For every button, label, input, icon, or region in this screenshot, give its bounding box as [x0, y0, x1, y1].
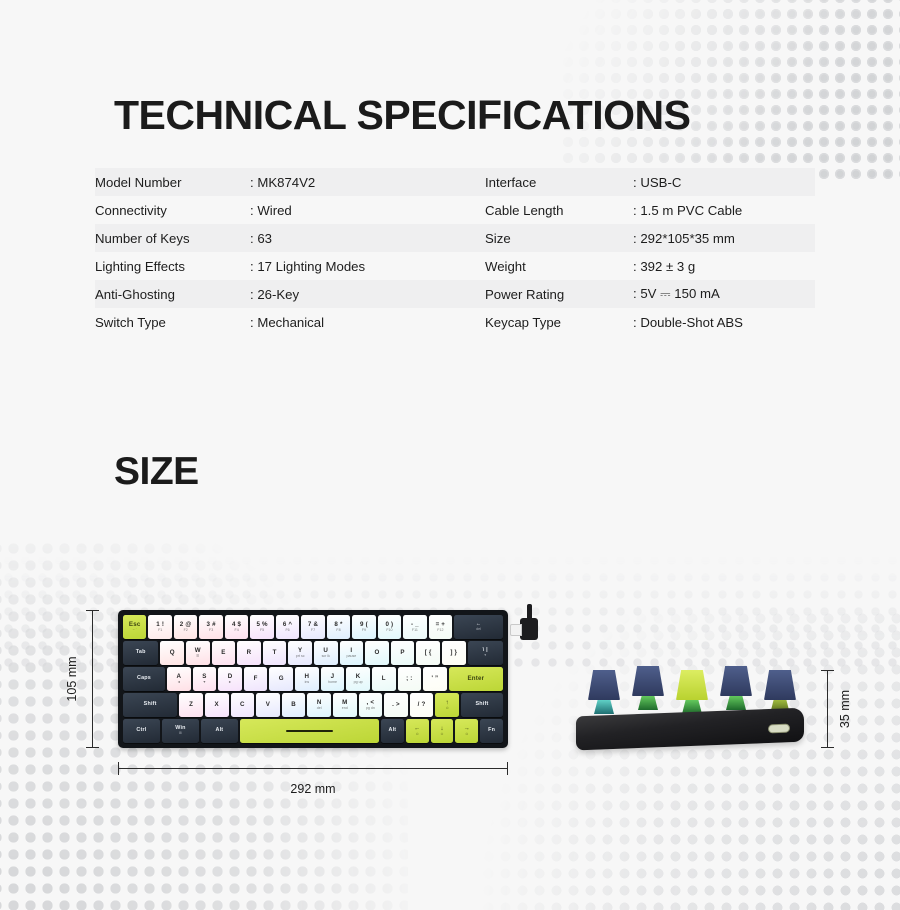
- width-dimension-line: [118, 768, 508, 769]
- width-cap-left: [118, 762, 119, 775]
- side-keycap-top: [588, 670, 620, 700]
- depth-dimension-label: 35 mm: [838, 679, 852, 739]
- usb-c-connector-icon: [508, 604, 540, 652]
- key-legend: S: [202, 674, 206, 680]
- key-legend: / ?: [418, 702, 426, 708]
- key-sublegend: del: [476, 628, 481, 632]
- key-legend: R: [247, 650, 252, 656]
- key-enter[interactable]: Enter: [449, 667, 503, 691]
- key-legend: 7 &: [308, 622, 318, 628]
- key-r[interactable]: R: [237, 641, 261, 665]
- key-[interactable]: , <pg dn: [359, 693, 383, 717]
- key-legend: Esc: [129, 622, 141, 628]
- key-legend: Shift: [144, 702, 157, 707]
- key-sublegend: home: [328, 681, 337, 685]
- key-legend: L: [382, 676, 386, 682]
- key-[interactable]: ' ”: [423, 667, 447, 691]
- key-sublegend: pause: [346, 655, 356, 659]
- key-legend: ' ”: [431, 676, 438, 682]
- width-dimension-label: 292 mm: [118, 782, 508, 796]
- key-legend: ] }: [450, 650, 457, 656]
- key-legend: E: [221, 650, 225, 656]
- key-b[interactable]: B: [282, 693, 306, 717]
- key-sublegend: ⊙: [416, 733, 419, 737]
- side-keycap-switch: [726, 696, 746, 710]
- key-sublegend: scr lk: [322, 655, 330, 659]
- key-legend: G: [279, 676, 284, 682]
- key-[interactable]: [ {: [416, 641, 440, 665]
- spec-key: Keycap Type: [485, 308, 633, 336]
- spec-value: : Double-Shot ABS: [633, 308, 815, 336]
- key-6[interactable]: 6 ^F6: [276, 615, 299, 639]
- key-ctrl[interactable]: Ctrl: [123, 719, 160, 743]
- key-legend: C: [240, 702, 245, 708]
- key-sublegend: F1: [158, 629, 162, 633]
- spec-value: : 1.5 m PVC Cable: [633, 196, 815, 224]
- key-u[interactable]: Uscr lk: [314, 641, 338, 665]
- key-sublegend: F10: [386, 629, 392, 633]
- spec-key: Model Number: [95, 168, 250, 196]
- key-legend: Q: [170, 650, 175, 656]
- key-legend: H: [305, 674, 310, 680]
- key-sublegend: end: [342, 707, 348, 711]
- key-legend: 5 %: [256, 622, 267, 628]
- key-sublegend: ▾: [484, 654, 486, 658]
- spec-value: : 63: [250, 224, 485, 252]
- key-legend: Enter: [467, 676, 484, 682]
- key-legend: ↓: [440, 726, 443, 732]
- key-tab[interactable]: Tab: [123, 641, 158, 665]
- key-v[interactable]: V: [256, 693, 280, 717]
- key-esc[interactable]: Esc~ `: [123, 615, 146, 639]
- key-space[interactable]: [240, 719, 379, 743]
- spec-row: Number of Keys: 63Size: 292*105*35 mm: [95, 224, 815, 252]
- key-legend: D: [228, 674, 233, 680]
- keyboard-row: Esc~ `1 !F12 @F23 #F34 $F45 %F56 ^F67 &F…: [123, 615, 503, 639]
- side-keycap: [676, 670, 708, 714]
- key-fn[interactable]: Fn: [480, 719, 503, 743]
- side-keycap: [720, 666, 752, 710]
- spec-key: Lighting Effects: [95, 252, 250, 280]
- depth-cap-bottom: [821, 747, 834, 748]
- key-legend: 9 (: [360, 622, 368, 628]
- technical-specifications-heading: TECHNICAL SPECIFICATIONS: [114, 92, 690, 139]
- key-o[interactable]: O: [365, 641, 389, 665]
- key-sublegend: F8: [336, 629, 340, 633]
- spec-key: Power Rating: [485, 280, 633, 308]
- height-dimension-line: [92, 610, 93, 748]
- key-g[interactable]: G: [269, 667, 293, 691]
- key-legend: . >: [392, 702, 400, 708]
- spec-key: Cable Length: [485, 196, 633, 224]
- side-keycap-top: [764, 670, 796, 700]
- key-legend: - _: [411, 622, 419, 628]
- key-legend: ; :: [406, 676, 412, 682]
- key-legend: A: [176, 674, 181, 680]
- key-h[interactable]: Hins: [295, 667, 319, 691]
- key-d[interactable]: D►: [218, 667, 242, 691]
- key-legend: F: [254, 676, 258, 682]
- key-9[interactable]: 9 (F9: [352, 615, 375, 639]
- key-sublegend: F2: [184, 629, 188, 633]
- key-sublegend: F4: [235, 629, 239, 633]
- key-legend: J: [331, 674, 335, 680]
- side-keycap-switch: [638, 696, 658, 710]
- key-[interactable]: = +F12: [429, 615, 452, 639]
- key-legend: P: [400, 650, 404, 656]
- key-i[interactable]: Ipause: [340, 641, 364, 665]
- width-cap-right: [507, 762, 508, 775]
- key-legend: U: [323, 648, 328, 654]
- height-cap-top: [86, 610, 99, 611]
- key-a[interactable]: A◄: [167, 667, 191, 691]
- key-m[interactable]: Mend: [333, 693, 357, 717]
- height-dimension-label: 105 mm: [65, 649, 79, 709]
- key-j[interactable]: Jhome: [321, 667, 345, 691]
- key-legend: 0 ): [386, 622, 394, 628]
- key-sublegend: pg up: [354, 681, 363, 685]
- key-4[interactable]: 4 $F4: [225, 615, 248, 639]
- spec-value: : MK874V2: [250, 168, 485, 196]
- key-legend: 4 $: [232, 622, 241, 628]
- key-sublegend: ◄: [177, 681, 181, 685]
- key-sublegend: F5: [260, 629, 264, 633]
- key-shift[interactable]: Shift: [461, 693, 503, 717]
- size-diagram: 105 mm 292 mm 35 mm Esc~ `1 !F12 @F23 #F…: [0, 560, 900, 830]
- key-sublegend: ▼: [203, 681, 207, 685]
- spec-row: Model Number: MK874V2Interface: USB-C: [95, 168, 815, 196]
- spec-row: Lighting Effects: 17 Lighting ModesWeigh…: [95, 252, 815, 280]
- key-sublegend: ⊙: [446, 707, 449, 711]
- side-keycap-top: [720, 666, 752, 696]
- usb-c-port: [768, 724, 790, 734]
- side-keycap: [632, 666, 664, 710]
- key-legend: B: [291, 702, 296, 708]
- key-[interactable]: ←⊙: [406, 719, 429, 743]
- key-e[interactable]: E: [212, 641, 236, 665]
- key-c[interactable]: C: [231, 693, 255, 717]
- usb-plug-tip: [510, 624, 522, 636]
- key-legend: T: [273, 650, 277, 656]
- key-sublegend: ⊞: [179, 732, 182, 736]
- key-legend: 8 *: [334, 622, 342, 628]
- key-legend: , <: [367, 700, 375, 706]
- key-[interactable]: →⊙: [455, 719, 478, 743]
- key-legend: Fn: [488, 728, 495, 733]
- key-1[interactable]: 1 !F1: [148, 615, 171, 639]
- key-shift[interactable]: Shift: [123, 693, 177, 717]
- key-sublegend: ►: [228, 681, 232, 685]
- keyboard-row: CapsA◄S▼D►FGHinsJhomeKpg upL; :' ”Enter: [123, 667, 503, 691]
- key-[interactable]: / ?: [410, 693, 434, 717]
- key-legend: M: [342, 700, 347, 706]
- key-sublegend: pg dn: [366, 707, 375, 711]
- depth-dimension-line: [827, 670, 828, 748]
- key-sublegend: ~ `: [133, 629, 137, 633]
- spec-value: : Wired: [250, 196, 485, 224]
- key-[interactable]: - _F11: [403, 615, 426, 639]
- key-sublegend: F9: [362, 629, 366, 633]
- key-w[interactable]: W☰: [186, 641, 210, 665]
- key-k[interactable]: Kpg up: [346, 667, 370, 691]
- height-cap-bottom: [86, 747, 99, 748]
- key-sublegend: F6: [285, 629, 289, 633]
- spec-row: Switch Type: MechanicalKeycap Type: Doub…: [95, 308, 815, 336]
- key-alt[interactable]: Alt: [201, 719, 238, 743]
- key-legend: O: [374, 650, 379, 656]
- key-p[interactable]: P: [391, 641, 415, 665]
- key-8[interactable]: 8 *F8: [327, 615, 350, 639]
- depth-cap-top: [821, 670, 834, 671]
- key-t[interactable]: T: [263, 641, 287, 665]
- halftone-pattern-top-right: [560, 0, 900, 180]
- key-alt[interactable]: Alt: [381, 719, 404, 743]
- key-[interactable]: \ |▾: [468, 641, 503, 665]
- usb-plug-body: [520, 618, 538, 640]
- key-sublegend: ins: [305, 681, 310, 685]
- key-legend: →: [464, 726, 470, 732]
- spec-row: Anti-Ghosting: 26-KeyPower Rating: 5V ⎓ …: [95, 280, 815, 308]
- key-legend: Y: [298, 648, 302, 654]
- key-sublegend: F3: [209, 629, 213, 633]
- key-0[interactable]: 0 )F10: [378, 615, 401, 639]
- spec-row: Connectivity: WiredCable Length: 1.5 m P…: [95, 196, 815, 224]
- key-n[interactable]: Ndel: [307, 693, 331, 717]
- key-7[interactable]: 7 &F7: [301, 615, 324, 639]
- key-y[interactable]: Yprt sc: [288, 641, 312, 665]
- key-win[interactable]: Win⊞: [162, 719, 199, 743]
- key-sublegend: del: [317, 707, 322, 711]
- key-legend: W: [195, 648, 201, 654]
- key-[interactable]: ; :: [398, 667, 422, 691]
- key-5[interactable]: 5 %F5: [250, 615, 273, 639]
- spec-key: Number of Keys: [95, 224, 250, 252]
- spec-value: : 292*105*35 mm: [633, 224, 815, 252]
- keyboard-row: ShiftZXCVBNdelMend, <pg dn. >/ ?↑⊙Shift: [123, 693, 503, 717]
- key-sublegend: ⊙: [441, 733, 444, 737]
- side-keycap-top: [632, 666, 664, 696]
- spec-key: Anti-Ghosting: [95, 280, 250, 308]
- key-sublegend: F11: [412, 629, 418, 633]
- key-legend: 3 #: [207, 622, 216, 628]
- key-legend: N: [317, 700, 322, 706]
- key-legend: ←: [414, 726, 420, 732]
- size-heading: SIZE: [114, 450, 199, 494]
- keyboard-row: TabQW☰ERTYprt scUscr lkIpauseOP[ {] }\ |…: [123, 641, 503, 665]
- key-legend: K: [356, 674, 361, 680]
- key-legend: I: [350, 648, 352, 654]
- keyboard-row: CtrlWin⊞AltAlt←⊙↓⊙→⊙Fn: [123, 719, 503, 743]
- key-legend: Shift: [476, 702, 489, 707]
- spacebar-mark: [286, 730, 333, 732]
- spec-value: : Mechanical: [250, 308, 485, 336]
- keyboard-top-view: Esc~ `1 !F12 @F23 #F34 $F45 %F56 ^F67 &F…: [118, 610, 508, 748]
- key-legend: Ctrl: [136, 728, 146, 733]
- key-legend: ↑: [446, 700, 449, 706]
- spec-key: Connectivity: [95, 196, 250, 224]
- key-legend: Alt: [215, 728, 223, 733]
- key-legend: 1 !: [156, 622, 164, 628]
- key-3[interactable]: 3 #F3: [199, 615, 222, 639]
- spec-value: : 5V ⎓ 150 mA: [633, 280, 815, 308]
- spec-value: : USB-C: [633, 168, 815, 196]
- key-legend: 6 ^: [283, 622, 292, 628]
- spec-value: : 17 Lighting Modes: [250, 252, 485, 280]
- spec-value: : 392 ± 3 g: [633, 252, 815, 280]
- specifications-table: Model Number: MK874V2Interface: USB-CCon…: [95, 168, 815, 336]
- key-sublegend: ⊙: [465, 733, 468, 737]
- key-[interactable]: ] }: [442, 641, 466, 665]
- key-[interactable]: . >: [384, 693, 408, 717]
- keyboard-side-view: [570, 640, 810, 750]
- key-l[interactable]: L: [372, 667, 396, 691]
- halftone-pattern-top-right-2: [560, 0, 900, 180]
- key-legend: X: [215, 702, 219, 708]
- spec-key: Weight: [485, 252, 633, 280]
- key-legend: Alt: [388, 728, 396, 733]
- spec-key: Size: [485, 224, 633, 252]
- key-legend: V: [266, 702, 270, 708]
- key-legend: Caps: [137, 676, 151, 681]
- spec-key: Switch Type: [95, 308, 250, 336]
- key-f[interactable]: F: [244, 667, 268, 691]
- side-keycap-top: [676, 670, 708, 700]
- key-s[interactable]: S▼: [193, 667, 217, 691]
- key-[interactable]: ↓⊙: [431, 719, 454, 743]
- key-q[interactable]: Q: [160, 641, 184, 665]
- key-legend: Z: [189, 702, 193, 708]
- key-[interactable]: ↑⊙: [435, 693, 459, 717]
- key-legend: [ {: [425, 650, 432, 656]
- key-z[interactable]: Z: [179, 693, 203, 717]
- key-[interactable]: ←del: [454, 615, 503, 639]
- key-caps[interactable]: Caps: [123, 667, 165, 691]
- spec-value: : 26-Key: [250, 280, 485, 308]
- key-legend: 2 @: [180, 622, 192, 628]
- side-keycap: [588, 670, 620, 714]
- key-sublegend: F7: [311, 629, 315, 633]
- key-sublegend: ☰: [196, 655, 199, 659]
- key-sublegend: prt sc: [296, 655, 305, 659]
- key-legend: = +: [436, 622, 446, 628]
- spec-key: Interface: [485, 168, 633, 196]
- key-x[interactable]: X: [205, 693, 229, 717]
- key-2[interactable]: 2 @F2: [174, 615, 197, 639]
- key-legend: Tab: [136, 650, 146, 655]
- side-keycap-switch: [594, 700, 614, 714]
- key-sublegend: F12: [437, 629, 443, 633]
